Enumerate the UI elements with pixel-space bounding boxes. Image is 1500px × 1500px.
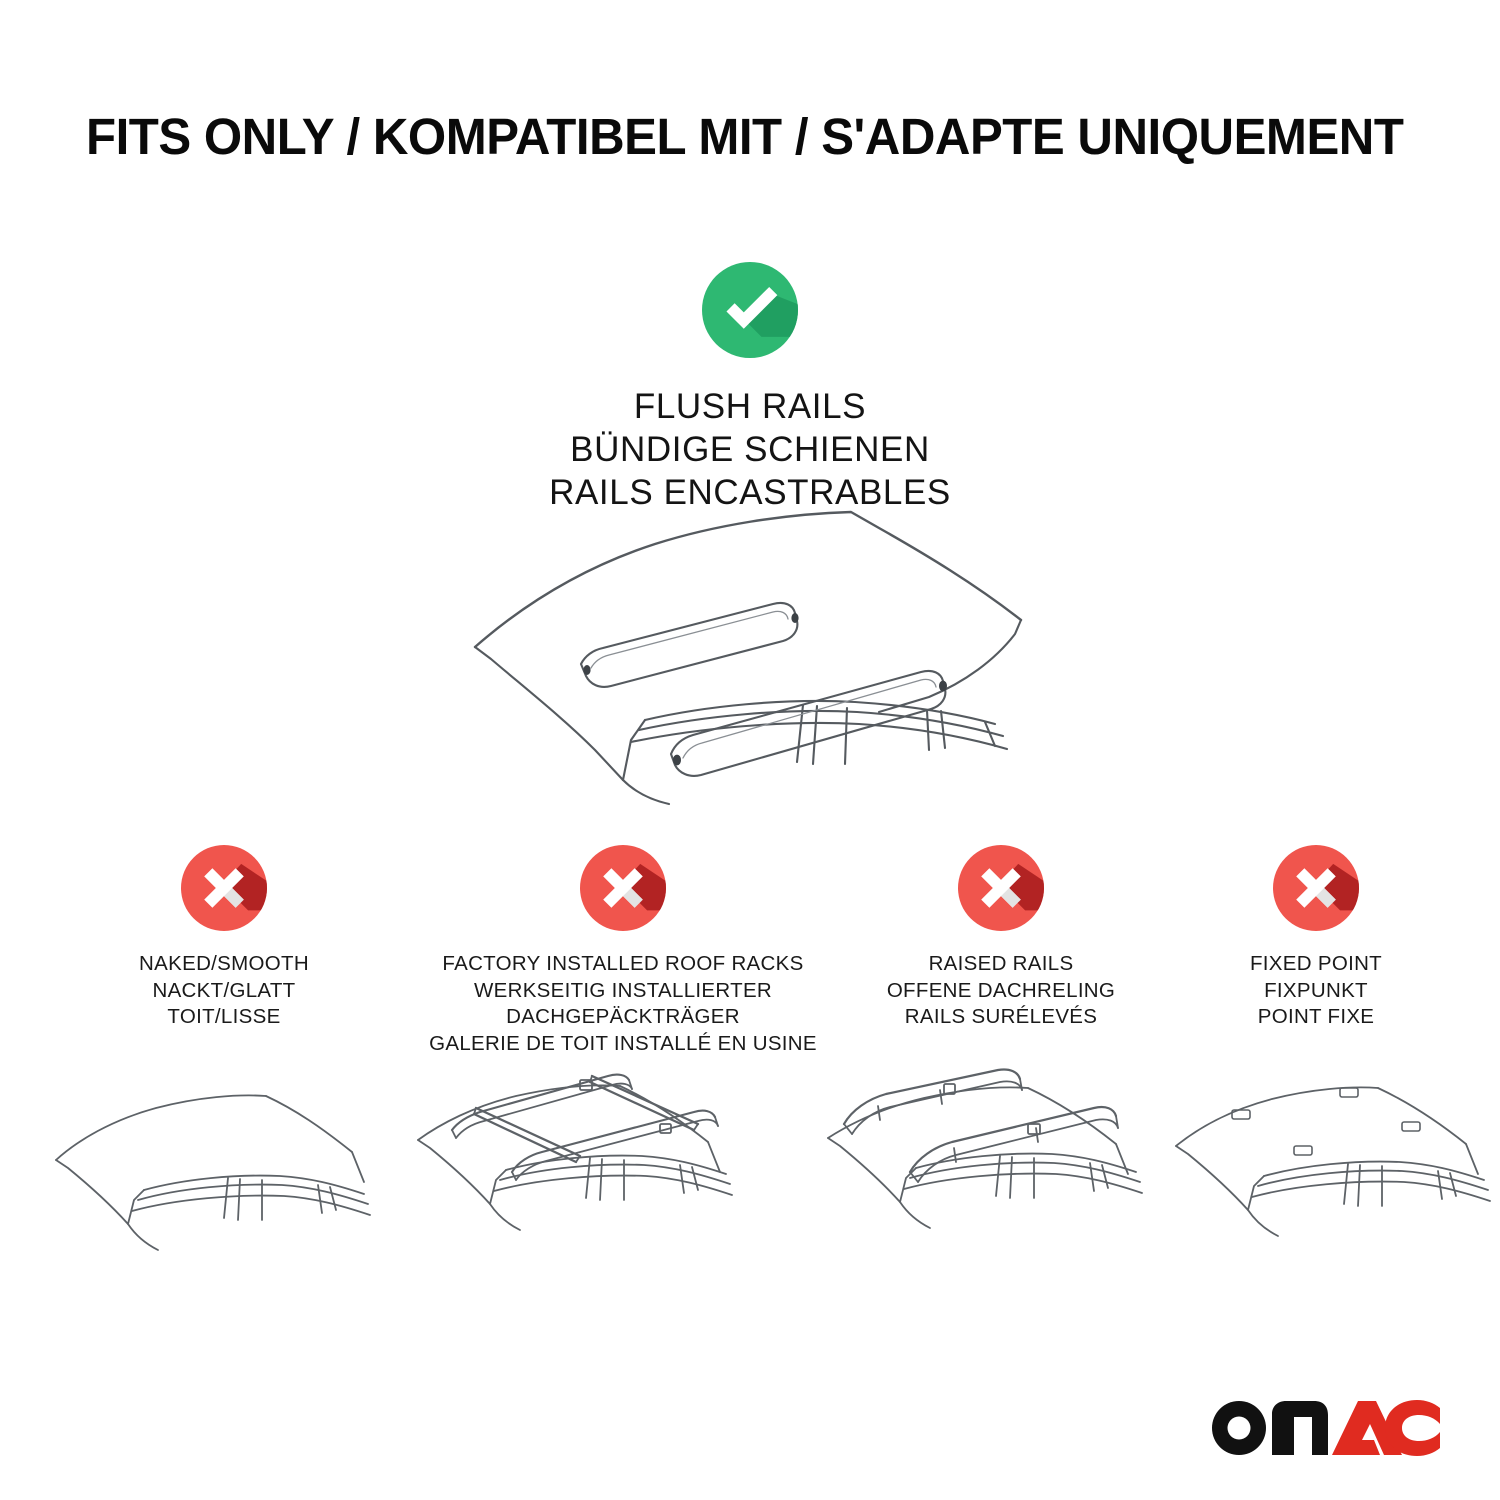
red-cross-circle-icon	[580, 845, 666, 931]
car-roof-factory-racks-illustration	[412, 1068, 762, 1288]
incompatible-label-line-1: RAISED RAILS	[846, 951, 1156, 978]
incompatible-label-line-3: DACHGEPÄCKTRÄGER	[392, 1004, 854, 1031]
red-cross-circle-icon	[958, 845, 1044, 931]
car-roof-raised-rails-illustration	[822, 1068, 1172, 1288]
compatible-label-line-2: BÜNDIGE SCHIENEN	[375, 428, 1125, 471]
incompatible-label: RAISED RAILS OFFENE DACHRELING RAILS SUR…	[846, 951, 1156, 1031]
incompatible-label: FACTORY INSTALLED ROOF RACKS WERKSEITIG …	[392, 951, 854, 1057]
green-check-circle-icon	[702, 262, 798, 358]
red-cross-circle-icon	[181, 845, 267, 931]
incompatible-label-line-3: TOIT/LISSE	[64, 1004, 384, 1031]
incompatible-label: NAKED/SMOOTH NACKT/GLATT TOIT/LISSE	[64, 951, 384, 1031]
incompatible-item-factory-installed-roof-racks: FACTORY INSTALLED ROOF RACKS WERKSEITIG …	[392, 845, 854, 1057]
car-roof-fixed-point-illustration	[1172, 1068, 1500, 1288]
car-roof-flush-rails-illustration	[455, 492, 1045, 812]
compatible-label-line-1: FLUSH RAILS	[375, 385, 1125, 428]
incompatible-label-line-2: FIXPUNKT	[1166, 978, 1466, 1005]
incompatible-item-fixed-point: FIXED POINT FIXPUNKT POINT FIXE	[1166, 845, 1466, 1031]
incompatible-label-line-4: GALERIE DE TOIT INSTALLÉ EN USINE	[392, 1031, 854, 1058]
incompatible-label-line-2: NACKT/GLATT	[64, 978, 384, 1005]
incompatible-label-line-1: FACTORY INSTALLED ROOF RACKS	[392, 951, 854, 978]
incompatible-label-line-2: WERKSEITIG INSTALLIERTER	[392, 978, 854, 1005]
compatible-block: FLUSH RAILS BÜNDIGE SCHIENEN RAILS ENCAS…	[375, 262, 1125, 514]
incompatible-item-naked-smooth: NAKED/SMOOTH NACKT/GLATT TOIT/LISSE	[64, 845, 384, 1031]
incompatible-label-line-3: POINT FIXE	[1166, 1004, 1466, 1031]
incompatible-label: FIXED POINT FIXPUNKT POINT FIXE	[1166, 951, 1466, 1031]
incompatible-label-line-1: FIXED POINT	[1166, 951, 1466, 978]
compatibility-infographic: FITS ONLY / KOMPATIBEL MIT / S'ADAPTE UN…	[0, 0, 1500, 1500]
car-roof-naked-illustration	[52, 1068, 392, 1288]
omac-logo	[1206, 1388, 1444, 1458]
incompatible-item-raised-rails: RAISED RAILS OFFENE DACHRELING RAILS SUR…	[846, 845, 1156, 1031]
incompatible-label-line-2: OFFENE DACHRELING	[846, 978, 1156, 1005]
incompatible-row: NAKED/SMOOTH NACKT/GLATT TOIT/LISSE FACT…	[0, 845, 1500, 1075]
incompatible-label-line-3: RAILS SURÉLEVÉS	[846, 1004, 1156, 1031]
red-cross-circle-icon	[1273, 845, 1359, 931]
incompatible-label-line-1: NAKED/SMOOTH	[64, 951, 384, 978]
page-title: FITS ONLY / KOMPATIBEL MIT / S'ADAPTE UN…	[86, 108, 1379, 166]
